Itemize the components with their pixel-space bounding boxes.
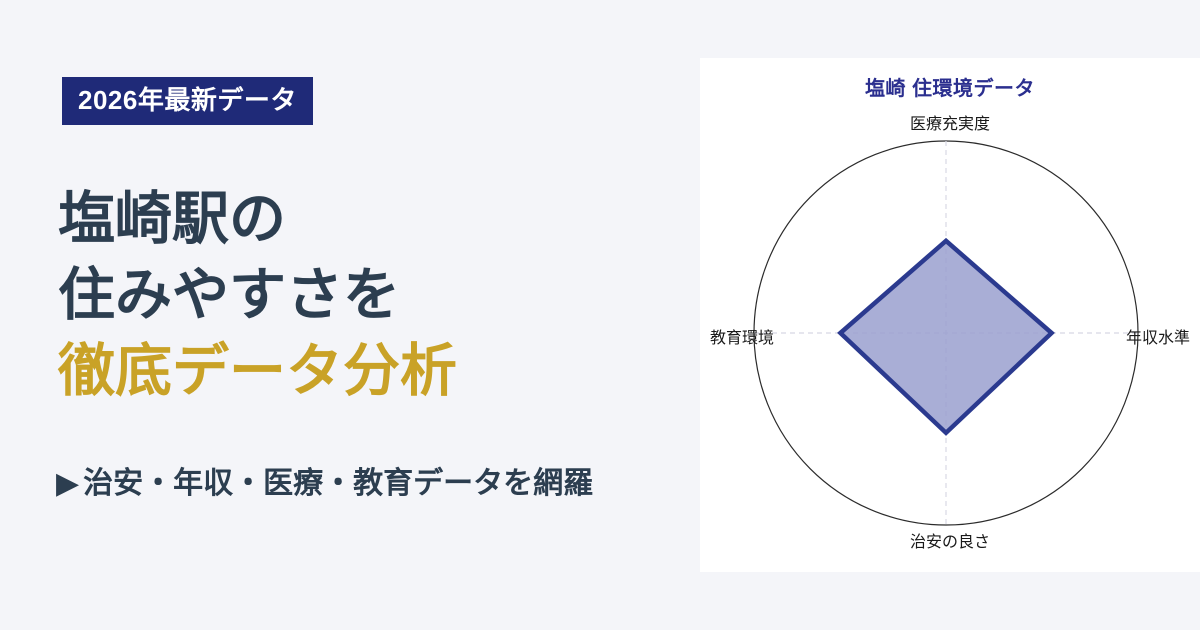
- left-content-panel: 2026年最新データ 塩崎駅の 住みやすさを 徹底データ分析 ▶治安・年収・医療…: [0, 0, 700, 630]
- radar-chart-svg: [700, 58, 1200, 572]
- headline-line-3-accent: 徹底データ分析: [58, 334, 678, 410]
- radar-data-polygon: [840, 241, 1051, 433]
- triangle-right-icon: ▶: [56, 466, 79, 502]
- page-title: 塩崎駅の 住みやすさを 徹底データ分析: [58, 182, 678, 409]
- latest-data-badge: 2026年最新データ: [62, 77, 313, 125]
- radar-chart-panel: 塩崎 住環境データ 医療充実度 年収水準 治安の良さ 教育環境: [700, 58, 1200, 572]
- radar-axis-label-left: 教育環境: [710, 324, 774, 348]
- headline-line-1: 塩崎駅の: [58, 182, 678, 258]
- headline-line-2: 住みやすさを: [58, 258, 678, 334]
- radar-axis-label-bottom: 治安の良さ: [700, 528, 1200, 552]
- subtitle: ▶治安・年収・医療・教育データを網羅: [56, 466, 593, 502]
- poster-root: 2026年最新データ 塩崎駅の 住みやすさを 徹底データ分析 ▶治安・年収・医療…: [0, 0, 1200, 630]
- subtitle-text: 治安・年収・医療・教育データを網羅: [83, 467, 593, 500]
- radar-axis-label-right: 年収水準: [1126, 324, 1190, 348]
- radar-axis-label-top: 医療充実度: [700, 110, 1200, 134]
